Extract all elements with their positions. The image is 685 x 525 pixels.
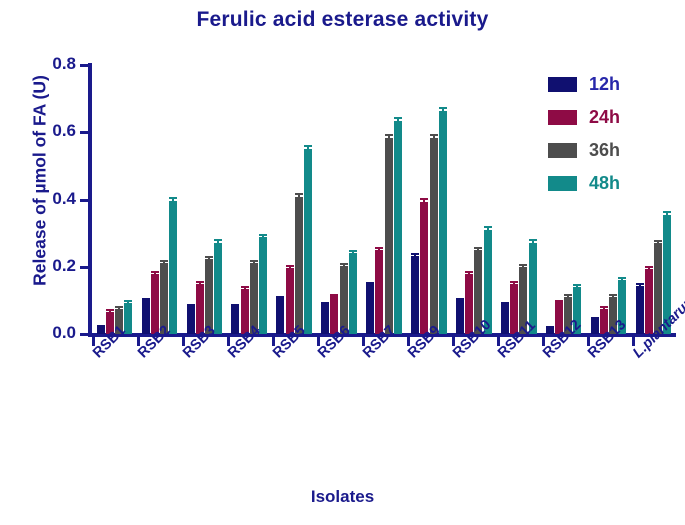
error-bar-cap [366, 282, 374, 284]
error-bar-cap [375, 247, 383, 249]
chart-title: Ferulic acid esterase activity [0, 8, 685, 32]
bar [142, 300, 150, 334]
error-bar-cap [187, 304, 195, 306]
error-bar-cap [286, 265, 294, 267]
bar [124, 303, 132, 334]
error-bar-cap [609, 294, 617, 296]
error-bar-cap [555, 300, 563, 302]
error-bar-cap [295, 193, 303, 195]
legend-item[interactable]: 24h [548, 101, 678, 134]
bar [187, 306, 195, 334]
error-bar-cap [124, 300, 132, 302]
error-bar-cap [663, 211, 671, 213]
error-bar-cap [600, 306, 608, 308]
bar [394, 121, 402, 334]
bar [375, 250, 383, 334]
legend-label: 48h [589, 173, 620, 194]
error-bar-cap [636, 283, 644, 285]
error-bar-cap [330, 294, 338, 296]
bar [420, 202, 428, 334]
error-bar-cap [115, 306, 123, 308]
error-bar-cap [564, 294, 572, 296]
error-bar-cap [276, 296, 284, 298]
error-bar-cap [151, 271, 159, 273]
error-bar-cap [142, 298, 150, 300]
bar [321, 304, 329, 334]
legend-label: 12h [589, 74, 620, 95]
legend-swatch [548, 110, 577, 125]
x-axis-title: Isolates [0, 487, 685, 507]
error-bar-cap [430, 134, 438, 136]
error-bar-cap [106, 309, 114, 311]
error-bar-cap [241, 286, 249, 288]
bar [304, 149, 312, 334]
error-bar-cap [654, 240, 662, 242]
error-bar-cap [420, 198, 428, 200]
error-bar-cap [169, 197, 177, 199]
error-bar-cap [340, 263, 348, 265]
error-bar-cap [501, 302, 509, 304]
error-bar-cap [411, 253, 419, 255]
bar [349, 253, 357, 334]
bar [645, 269, 653, 334]
y-axis-tick-label: 0.4 [18, 189, 76, 209]
legend-item[interactable]: 36h [548, 134, 678, 167]
bar [465, 274, 473, 334]
bar [231, 306, 239, 334]
error-bar-cap [97, 325, 105, 327]
y-axis-tick-label: 0.2 [18, 256, 76, 276]
bar [276, 298, 284, 334]
bar [430, 138, 438, 334]
y-axis-tick-label: 0.0 [18, 323, 76, 343]
error-bar-cap [591, 317, 599, 319]
bar [366, 284, 374, 334]
y-axis-tick-label: 0.6 [18, 121, 76, 141]
error-bar-cap [456, 298, 464, 300]
legend-label: 36h [589, 140, 620, 161]
error-bar-cap [546, 326, 554, 328]
y-axis-tick-label: 0.8 [18, 54, 76, 74]
error-bar-cap [196, 281, 204, 283]
error-bar-cap [519, 264, 527, 266]
chart-container: Ferulic acid esterase activity Release o… [0, 0, 685, 525]
legend-swatch [548, 77, 577, 92]
bar [151, 274, 159, 334]
error-bar-cap [484, 226, 492, 228]
y-axis-title: Release of µmol of FA (U) [30, 36, 51, 326]
bar [385, 138, 393, 334]
error-bar-cap [465, 271, 473, 273]
bar [411, 256, 419, 334]
legend-label: 24h [589, 107, 620, 128]
error-bar-cap [259, 234, 267, 236]
error-bar-cap [529, 239, 537, 241]
error-bar-cap [573, 284, 581, 286]
error-bar-cap [160, 260, 168, 262]
error-bar-cap [231, 304, 239, 306]
error-bar-cap [645, 266, 653, 268]
bar [501, 304, 509, 334]
error-bar-cap [321, 302, 329, 304]
bar [295, 197, 303, 334]
error-bar-cap [385, 134, 393, 136]
legend-swatch [548, 176, 577, 191]
error-bar-cap [250, 260, 258, 262]
error-bar-cap [349, 250, 357, 252]
error-bar-cap [304, 145, 312, 147]
bar [214, 243, 222, 334]
bar [439, 111, 447, 334]
error-bar-cap [205, 256, 213, 258]
bar [286, 268, 294, 334]
legend-item[interactable]: 48h [548, 167, 678, 200]
bar [169, 201, 177, 334]
legend-swatch [548, 143, 577, 158]
chart-legend: 12h24h36h48h [548, 68, 678, 200]
bar [259, 237, 267, 334]
error-bar-cap [439, 107, 447, 109]
bar [636, 286, 644, 334]
error-bar-cap [618, 277, 626, 279]
error-bar-cap [214, 239, 222, 241]
legend-item[interactable]: 12h [548, 68, 678, 101]
error-bar-cap [510, 281, 518, 283]
error-bar-cap [474, 247, 482, 249]
bar [456, 300, 464, 334]
error-bar-cap [394, 117, 402, 119]
